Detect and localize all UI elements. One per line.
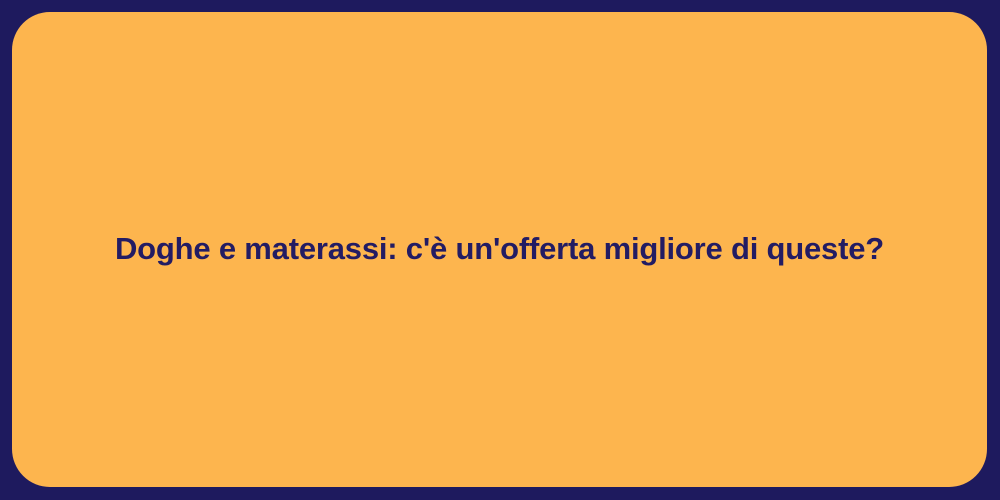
banner-headline: Doghe e materassi: c'è un'offerta miglio…: [75, 230, 924, 269]
banner-frame: Doghe e materassi: c'è un'offerta miglio…: [0, 0, 1000, 500]
banner-panel: Doghe e materassi: c'è un'offerta miglio…: [12, 12, 987, 487]
